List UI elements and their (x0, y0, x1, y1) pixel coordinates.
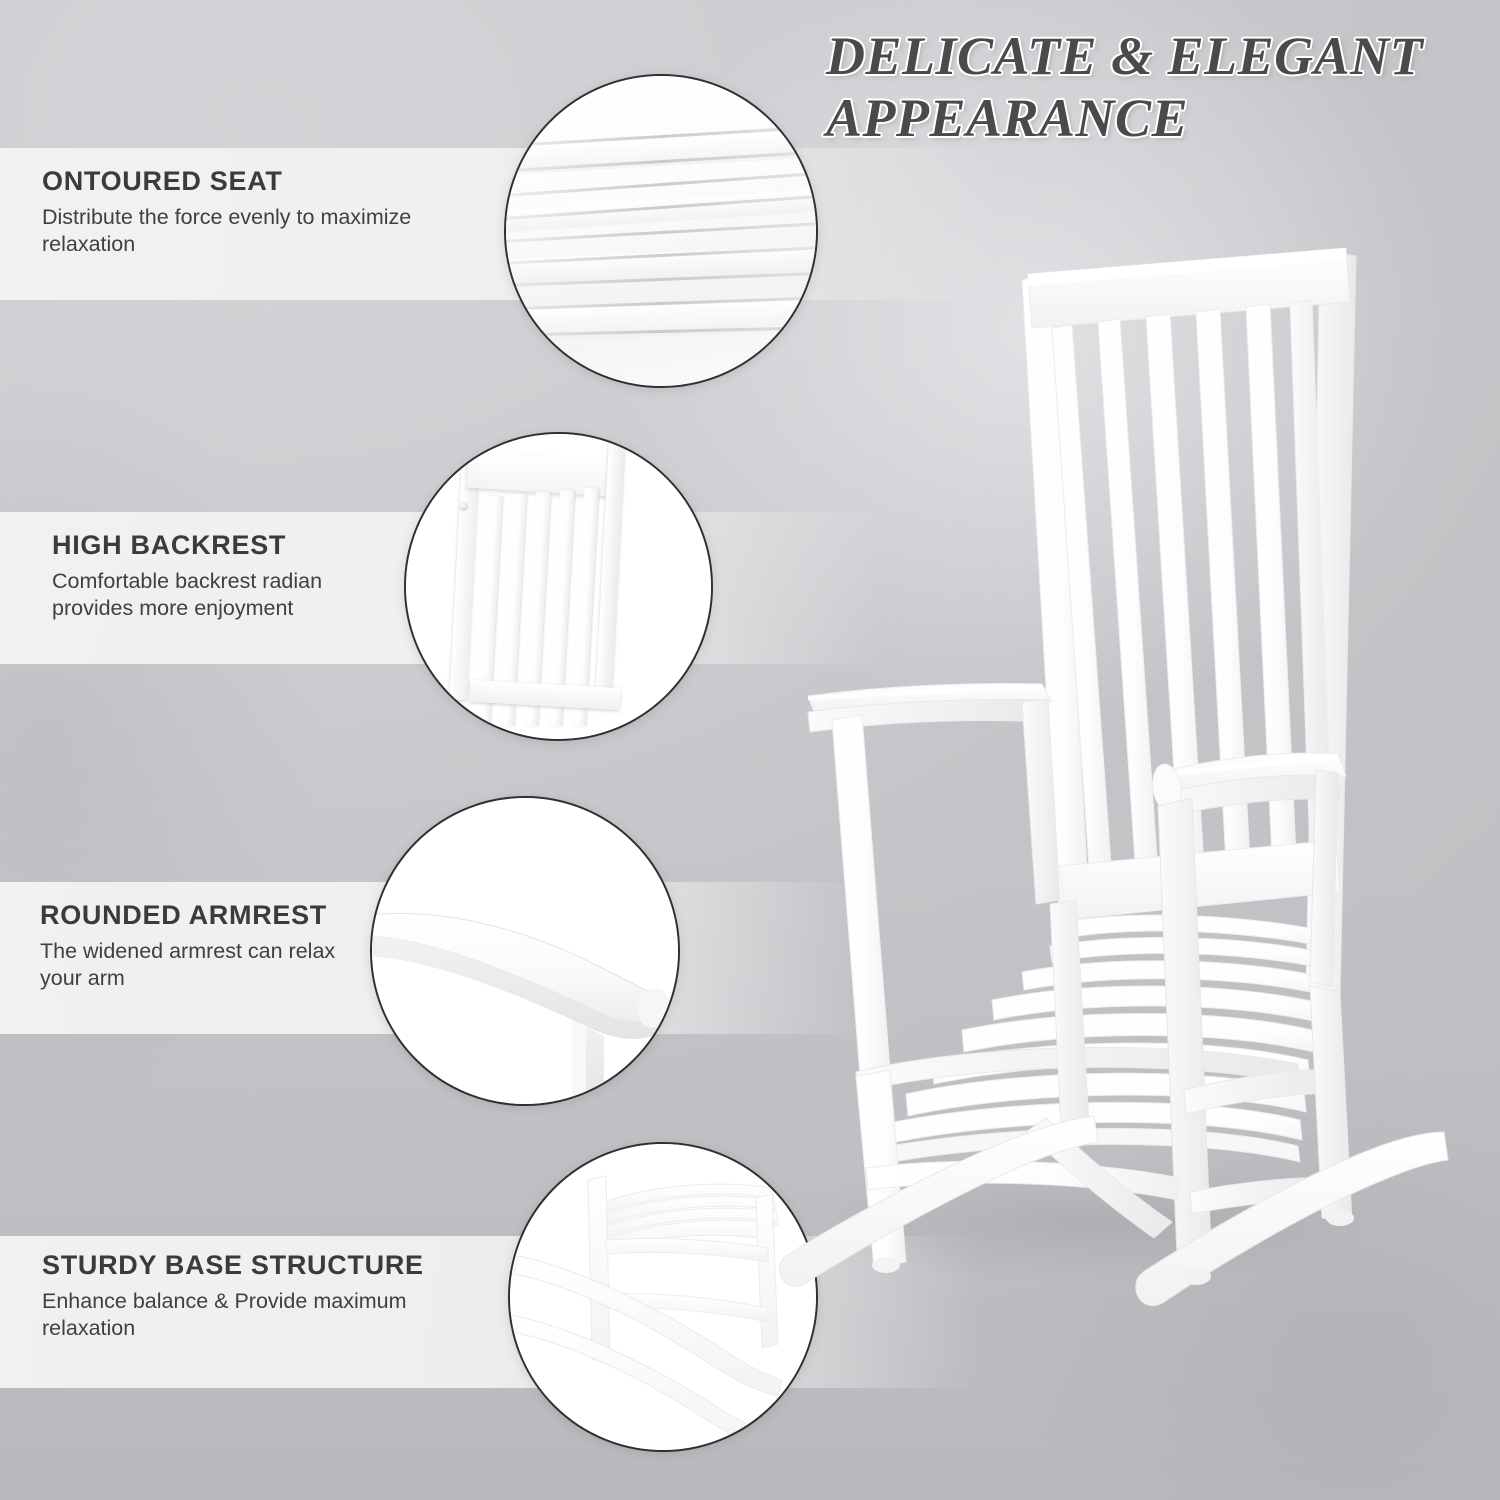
callout-circle-rounded-armrest (370, 796, 680, 1106)
feature-desc-sturdy-base: Enhance balance & Provide maximum relaxa… (42, 1288, 442, 1342)
callout-circle-high-backrest (404, 432, 713, 741)
feature-title-sturdy-base: STURDY BASE STRUCTURE (42, 1252, 442, 1279)
feature-title-rounded-armrest: ROUNDED ARMREST (40, 902, 365, 929)
page-title: DELICATE & ELEGANT APPEARANCE (826, 26, 1486, 149)
feature-high-backrest: HIGH BACKREST Comfortable backrest radia… (52, 532, 382, 622)
feature-contoured-seat: ONTOURED SEAT Distribute the force evenl… (42, 168, 472, 258)
feature-desc-high-backrest: Comfortable backrest radian provides mor… (52, 568, 382, 622)
feature-desc-rounded-armrest: The widened armrest can relax your arm (40, 938, 365, 992)
callout-image-backrest (406, 434, 711, 739)
page-title-line-1: DELICATE & ELEGANT (826, 26, 1486, 88)
feature-rounded-armrest: ROUNDED ARMREST The widened armrest can … (40, 902, 365, 992)
page-title-line-2: APPEARANCE (826, 88, 1486, 150)
callout-image-armrest (372, 798, 678, 1104)
product-image-rocking-chair (760, 210, 1460, 1310)
feature-sturdy-base: STURDY BASE STRUCTURE Enhance balance & … (42, 1252, 442, 1342)
feature-title-high-backrest: HIGH BACKREST (52, 532, 382, 559)
feature-desc-contoured-seat: Distribute the force evenly to maximize … (42, 204, 472, 258)
infographic-canvas: DELICATE & ELEGANT APPEARANCE ONTOURED S… (0, 0, 1500, 1500)
feature-title-contoured-seat: ONTOURED SEAT (42, 168, 472, 195)
